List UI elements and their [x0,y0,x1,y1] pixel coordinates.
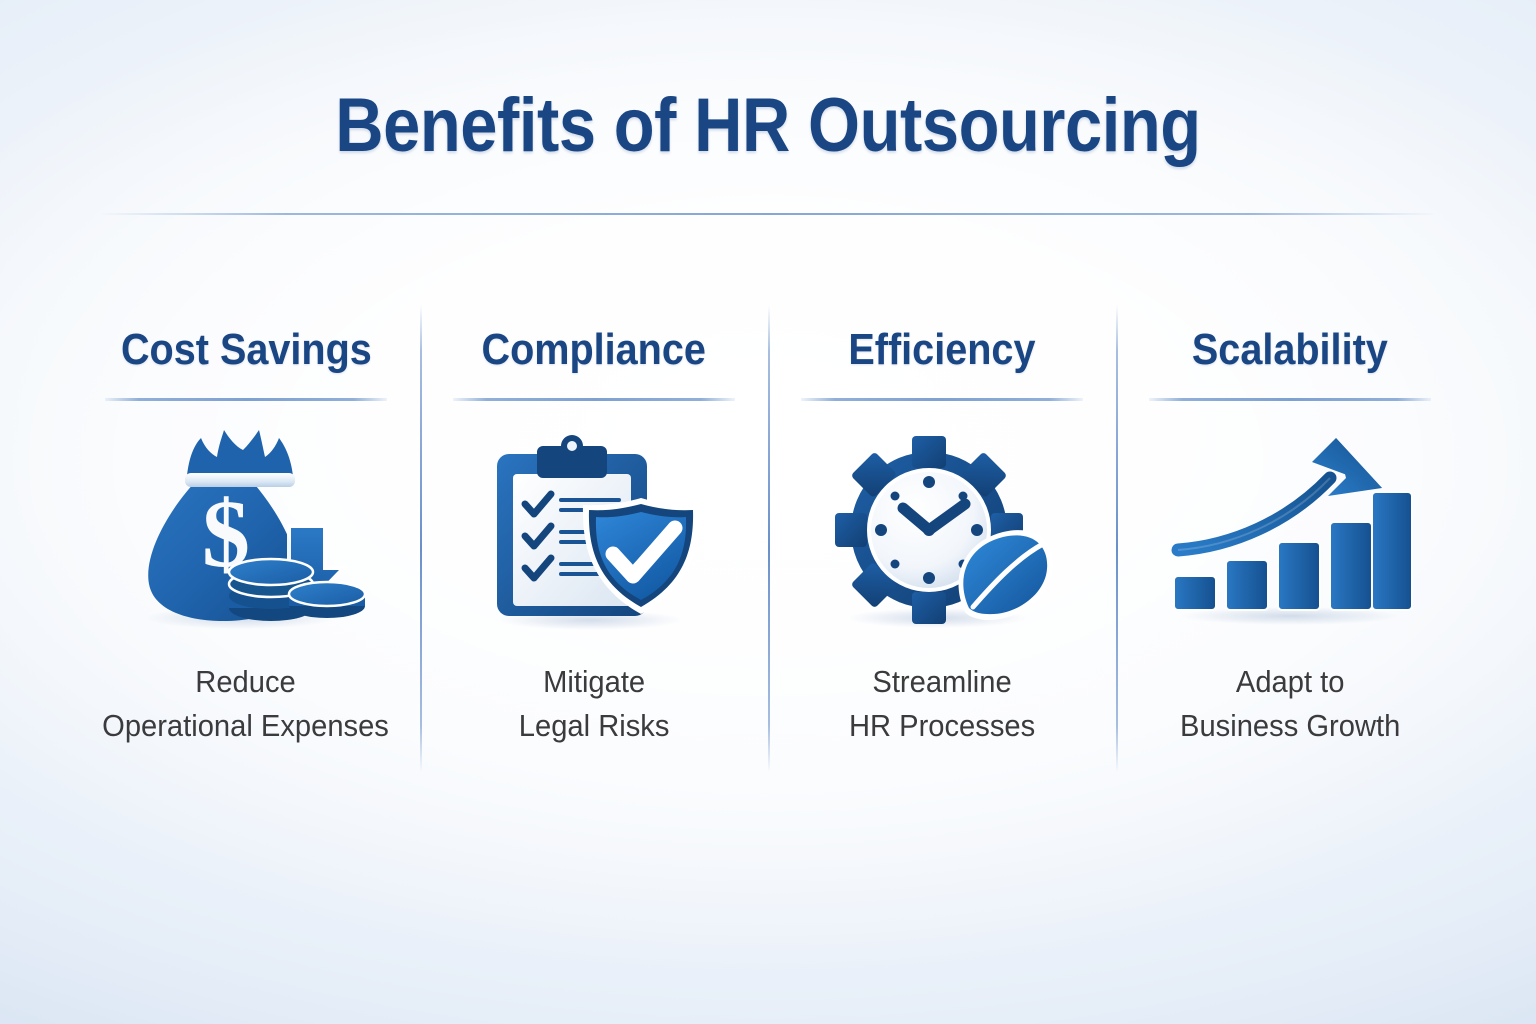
column-caption: Reduce Operational Expenses [103,660,390,748]
column-heading: Efficiency [848,328,1035,372]
money-bag-icon: $ [116,423,376,638]
benefits-columns: Cost Savings [72,300,1464,790]
benefit-column-cost-savings: Cost Savings [72,300,420,790]
column-caption: Mitigate Legal Risks [519,660,670,748]
infographic-canvas: Benefits of HR Outsourcing Cost Savings [0,0,1536,1024]
column-heading: Compliance [482,328,706,372]
growth-bar-chart-arrow-icon [1160,423,1420,638]
column-heading: Cost Savings [121,328,372,372]
benefit-column-scalability: Scalability [1116,300,1464,790]
column-caption: Adapt to Business Growth [1180,660,1400,748]
heading-underline [453,398,735,401]
column-caption: Streamline HR Processes [849,660,1035,748]
clipboard-shield-icon [464,423,724,638]
page-title: Benefits of HR Outsourcing [92,82,1444,169]
column-heading: Scalability [1192,328,1388,372]
gear-clock-leaf-icon [812,423,1072,638]
heading-underline [105,398,387,401]
benefit-column-compliance: Compliance [420,300,768,790]
title-divider-rule [100,213,1436,215]
heading-underline [1149,398,1431,401]
heading-underline [801,398,1083,401]
benefit-column-efficiency: Efficiency [768,300,1116,790]
